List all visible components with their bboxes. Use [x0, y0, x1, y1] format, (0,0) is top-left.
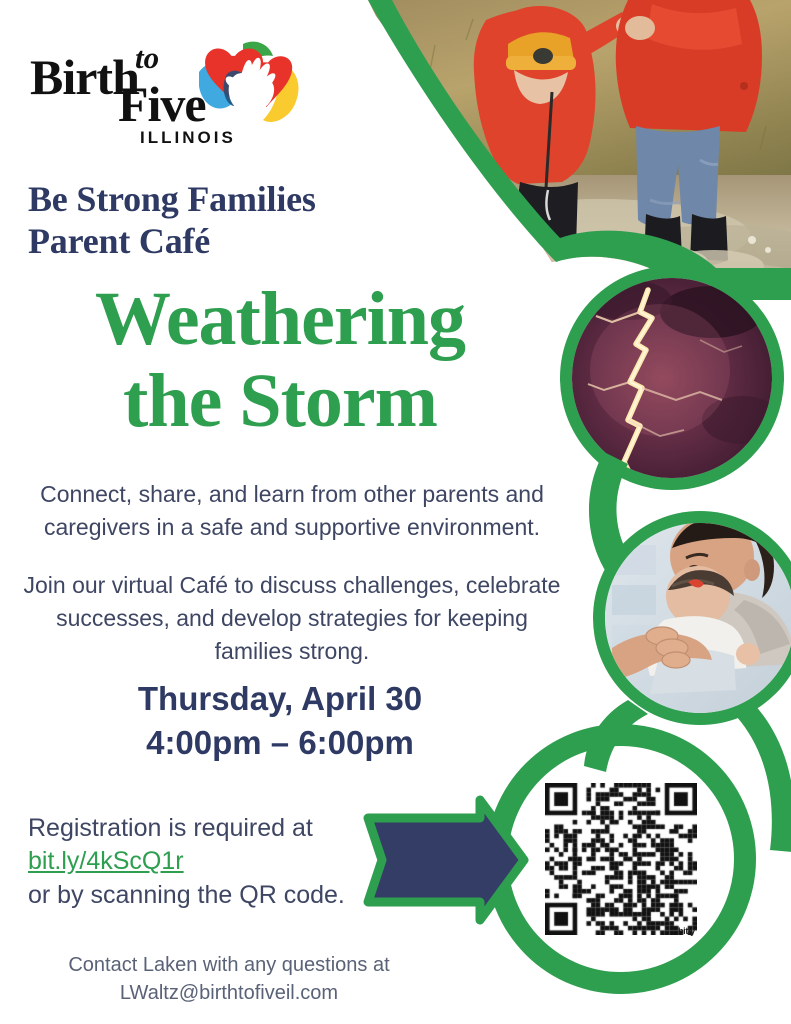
logo-text-to: to — [135, 42, 159, 73]
event-description: Connect, share, and learn from other par… — [14, 478, 570, 667]
two-hearts-with-hand-icon — [195, 30, 305, 140]
contact-info: Contact Laken with any questions at LWal… — [14, 952, 444, 1007]
lightning-storm-photo — [560, 266, 784, 490]
event-datetime: Thursday, April 30 4:00pm – 6:00pm — [30, 677, 530, 765]
subtitle-line-1: Be Strong Families — [28, 178, 448, 220]
green-swoosh-middle — [589, 452, 646, 596]
children-splashing-in-puddles-photo — [330, 0, 791, 314]
description-paragraph-2: Join our virtual Café to discuss challen… — [14, 569, 570, 667]
registration-block: Registration is required at bit.ly/4kScQ… — [28, 812, 428, 912]
father-holding-baby-photo — [593, 511, 791, 725]
qr-code-image[interactable] — [545, 783, 697, 935]
qr-brand-label: bitly — [678, 926, 695, 936]
headline-line-1: Weathering — [20, 278, 540, 360]
green-swoosh-lower — [584, 700, 648, 772]
contact-line-1: Contact Laken with any questions at — [14, 952, 444, 980]
registration-link[interactable]: bit.ly/4kScQ1r — [28, 845, 184, 878]
event-date: Thursday, April 30 — [30, 677, 530, 721]
description-paragraph-1: Connect, share, and learn from other par… — [14, 478, 570, 543]
event-time: 4:00pm – 6:00pm — [30, 721, 530, 765]
page-title: Weathering the Storm — [20, 278, 540, 442]
child-left — [474, 6, 644, 276]
qr-code[interactable]: bitly — [545, 783, 697, 935]
registration-lead-text: Registration is required at — [28, 812, 428, 845]
green-swoosh-right — [736, 702, 791, 852]
registration-qr-hint: or by scanning the QR code. — [28, 879, 428, 912]
contact-line-2: LWaltz@birthtofiveil.com — [14, 980, 444, 1008]
logo-text-five: Five — [118, 79, 206, 129]
adult-right — [609, 0, 771, 282]
subtitle-line-2: Parent Café — [28, 220, 448, 262]
event-series-title: Be Strong Families Parent Café — [28, 178, 448, 263]
flyer-page: Birth to Five ILLINOIS — [0, 0, 791, 1024]
birth-to-five-illinois-logo: Birth to Five ILLINOIS — [30, 22, 300, 142]
headline-line-2: the Storm — [20, 360, 540, 442]
